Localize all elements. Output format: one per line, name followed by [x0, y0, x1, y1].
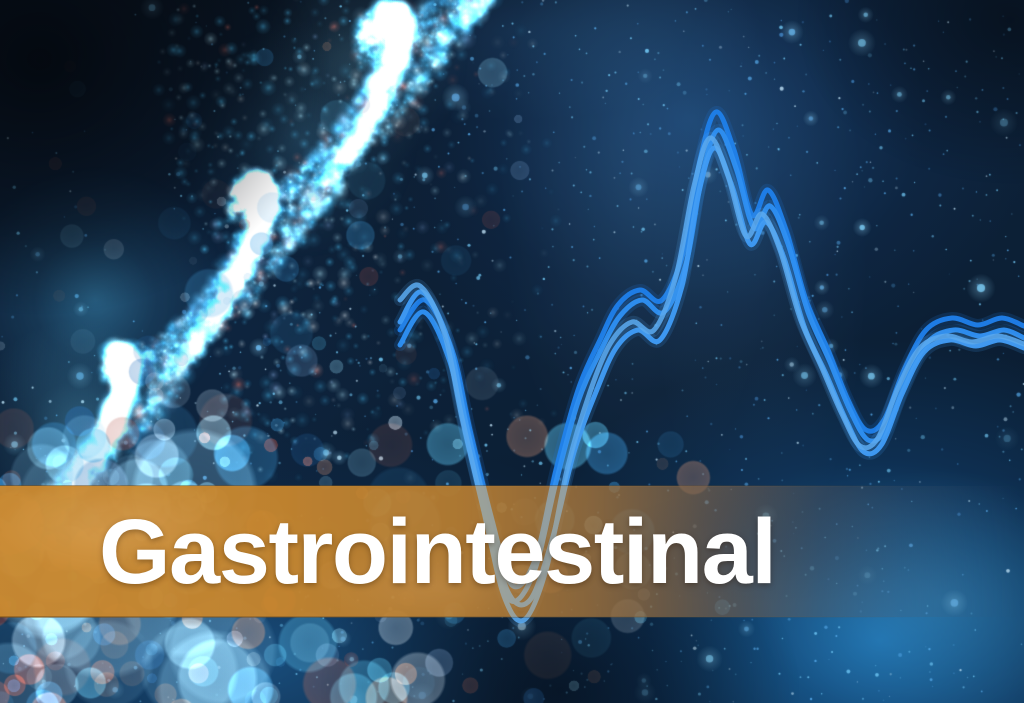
- hero-banner-image: Gastrointestinal: [0, 0, 1024, 703]
- page-title: Gastrointestinal: [99, 500, 775, 604]
